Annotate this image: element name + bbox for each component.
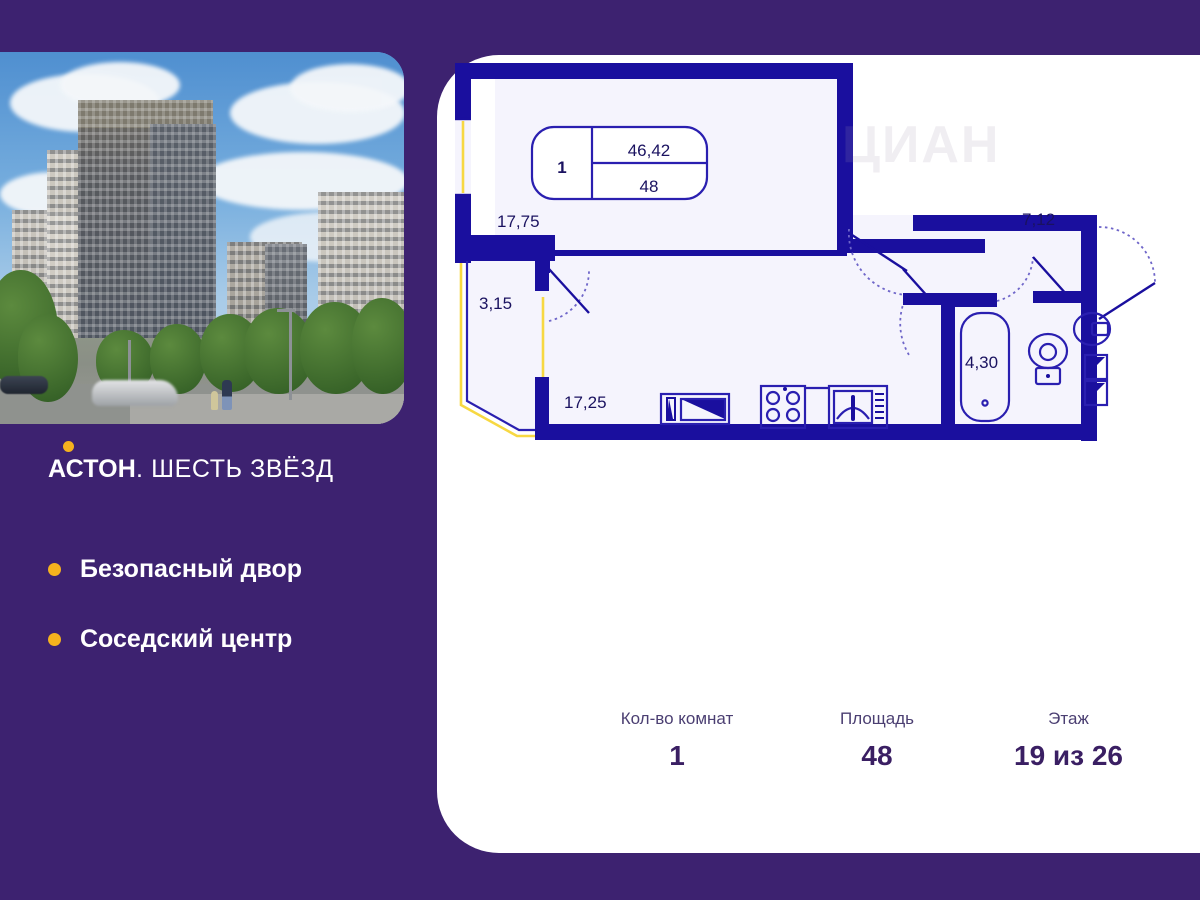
pedestrian-adult	[222, 380, 232, 410]
svg-text:1: 1	[557, 158, 566, 177]
svg-text:4,30: 4,30	[965, 353, 998, 372]
tree	[352, 298, 404, 394]
stat-value: 19 из 26	[937, 742, 1200, 770]
street-lamp	[289, 308, 292, 400]
parked-car	[0, 376, 48, 394]
svg-text:7,12: 7,12	[1022, 210, 1055, 229]
feature-label: Безопасный двор	[80, 555, 302, 584]
cloud	[290, 64, 404, 112]
residential-complex-render	[0, 52, 404, 424]
stat-floor: Этаж 19 из 26	[937, 710, 1200, 770]
brand-logo: АСТОН. ШЕСТЬ ЗВЁЗД	[48, 455, 334, 484]
moving-car	[92, 380, 178, 406]
bullet-dot-icon	[48, 633, 61, 646]
apartment-card: .wall{fill:#1A0F9E;} .floor{fill:#F5F4FD…	[437, 55, 1200, 853]
svg-text:17,25: 17,25	[564, 393, 607, 412]
svg-text:46,42: 46,42	[628, 141, 671, 160]
page-root: АСТОН. ШЕСТЬ ЗВЁЗД Безопасный двор Сосед…	[0, 0, 1200, 900]
street-lamp-arm	[277, 309, 295, 312]
pedestrian-child	[211, 391, 218, 410]
brand-dot-icon	[63, 441, 74, 452]
left-panel: АСТОН. ШЕСТЬ ЗВЁЗД Безопасный двор Сосед…	[0, 0, 437, 900]
svg-text:3,15: 3,15	[479, 294, 512, 313]
brand-name-light: . ШЕСТЬ ЗВЁЗД	[136, 455, 334, 483]
feature-item: Безопасный двор	[48, 555, 302, 584]
brand-name-bold: АСТОН	[48, 455, 136, 483]
svg-text:48: 48	[640, 177, 659, 196]
building-tower	[150, 124, 216, 350]
feature-item: Соседский центр	[48, 625, 292, 654]
feature-label: Соседский центр	[80, 625, 292, 654]
stat-label: Этаж	[937, 710, 1200, 727]
svg-text:17,75: 17,75	[497, 212, 540, 231]
floor-plan[interactable]: .wall{fill:#1A0F9E;} .floor{fill:#F5F4FD…	[437, 55, 1200, 615]
apartment-stats: Кол-во комнат 1 Площадь 48 Этаж 19 из 26	[437, 710, 1200, 830]
bullet-dot-icon	[48, 563, 61, 576]
